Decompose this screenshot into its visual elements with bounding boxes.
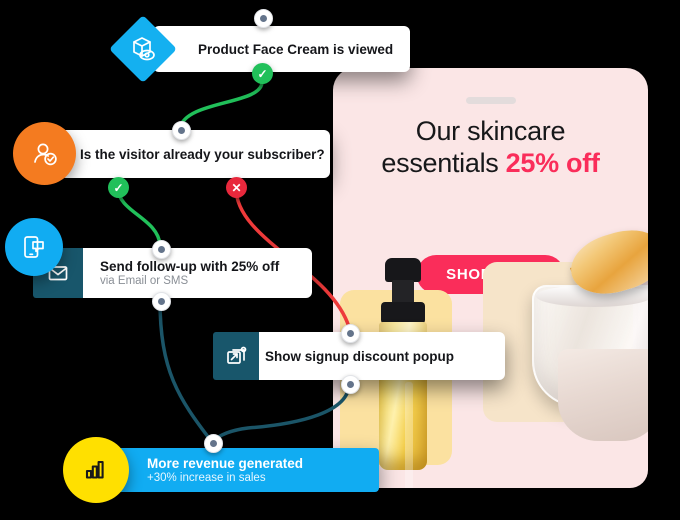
badge-no-decision[interactable]: ✕ [226, 177, 247, 198]
flow-node-send-followup[interactable]: Send follow-up with 25% off via Email or… [63, 248, 312, 298]
badge-yes-decision[interactable]: ✓ [108, 177, 129, 198]
connector-dot-product-top[interactable] [254, 9, 273, 28]
node-icon-shape-circle-orange [13, 122, 76, 185]
connector-dot-revenue-top[interactable] [204, 434, 223, 453]
connector-dot-decision-top[interactable] [172, 121, 191, 140]
user-check-icon [30, 139, 60, 169]
bar-chart-icon [81, 455, 111, 485]
connector-dot-followup-top[interactable] [152, 240, 171, 259]
phone-speaker-bar [466, 97, 516, 104]
flow-node-more-revenue[interactable]: More revenue generated +30% increase in … [85, 448, 379, 492]
badge-yes-product[interactable]: ✓ [252, 63, 273, 84]
flow-node-is-subscriber[interactable]: Is the visitor already your subscriber? [60, 130, 330, 178]
node-label: More revenue generated [147, 456, 303, 471]
node-icon-shape-circle-blue [5, 218, 63, 276]
popup-window-icon [224, 344, 248, 368]
node-icon-shape-square-teal-popup [213, 332, 259, 380]
connector-dot-popup-top[interactable] [341, 324, 360, 343]
automation-flow-illustration: Our skincare essentials 25% off SHOP NOW [0, 0, 680, 520]
box-eye-icon [126, 32, 160, 66]
connector-dot-popup-bottom[interactable] [341, 375, 360, 394]
node-sublabel: +30% increase in sales [147, 472, 303, 484]
node-label: Product Face Cream is viewed [198, 42, 393, 57]
node-label: Show signup discount popup [265, 349, 454, 364]
connector-dot-followup-bottom[interactable] [152, 292, 171, 311]
promo-headline-line1: Our skincare [333, 115, 648, 147]
promo-headline: Our skincare essentials 25% off [333, 115, 648, 179]
flow-node-product-viewed[interactable]: Product Face Cream is viewed [153, 26, 410, 72]
mobile-message-icon [20, 233, 48, 261]
flow-node-show-popup[interactable]: Show signup discount popup [213, 332, 505, 380]
promo-phone-card: Our skincare essentials 25% off SHOP NOW [333, 68, 648, 488]
promo-discount: 25% off [506, 148, 600, 178]
cream-jar-image [518, 233, 648, 418]
node-label: Is the visitor already your subscriber? [80, 147, 325, 162]
promo-headline-line2: essentials 25% off [333, 147, 648, 179]
node-sublabel: via Email or SMS [100, 275, 279, 287]
promo-headline-text: essentials [381, 148, 505, 178]
node-label: Send follow-up with 25% off [100, 259, 279, 274]
node-icon-shape-circle-yellow [63, 437, 129, 503]
